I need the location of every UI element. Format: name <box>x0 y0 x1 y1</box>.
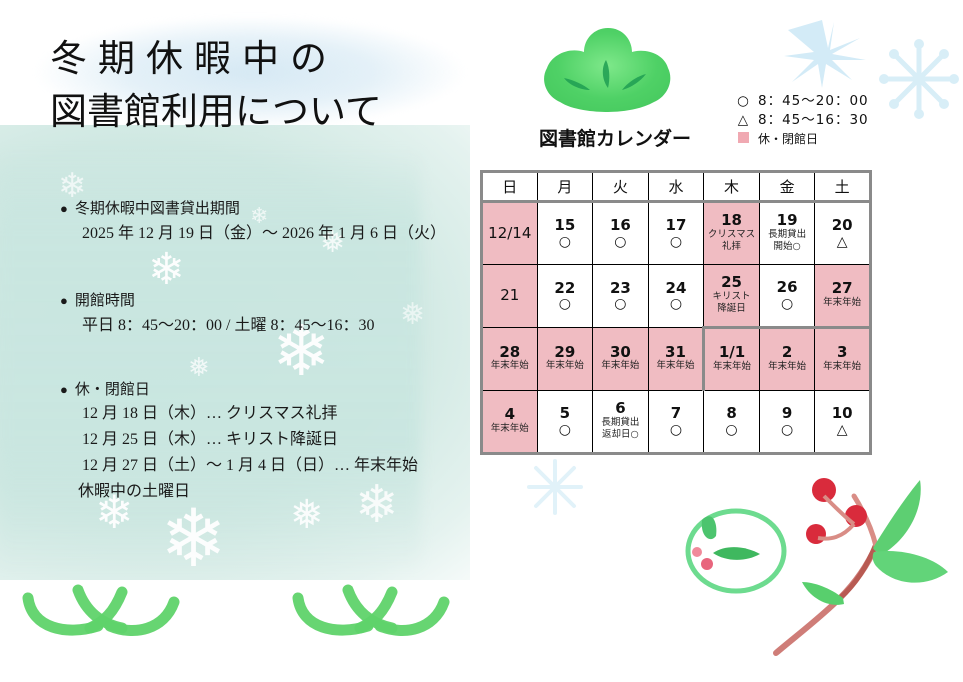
section-line: 12 月 27 日（土）～ 1 月 4 日（日）… 年末年始 <box>82 453 460 479</box>
weekday-header-tue: 火 <box>593 172 649 202</box>
green-garland-decoration <box>288 578 478 640</box>
day-number: 18 <box>721 213 742 229</box>
calendar-day-cell: 23○ <box>593 265 649 328</box>
calendar-week-row: 12/1415○16○17○18クリスマス礼拝19長期貸出開始○20△ <box>482 202 871 265</box>
day-number: 20 <box>832 218 853 234</box>
day-note: 年末年始 <box>601 360 639 373</box>
bullet-icon: ● <box>60 293 68 308</box>
calendar-day-cell: 12/14 <box>482 202 538 265</box>
day-number: 25 <box>721 275 742 291</box>
triangle-icon: △ <box>736 111 750 130</box>
calendar-day-cell: 8○ <box>704 391 760 454</box>
calendar-day-cell: 16○ <box>593 202 649 265</box>
day-note: 年末年始 <box>768 361 806 374</box>
calendar-day-cell: 31年末年始 <box>648 328 704 391</box>
snowflake-icon <box>872 36 963 122</box>
day-number: 26 <box>777 280 798 296</box>
day-note: 返却日○ <box>602 429 639 442</box>
circle-icon: ○ <box>559 235 571 249</box>
poster-canvas: ❄ ❅ ❄ ❄ ❅ ❄ ❄ ❅ ❄ ❄ ❅ 冬 <box>0 0 963 682</box>
calendar-day-cell: 6長期貸出返却日○ <box>593 391 649 454</box>
day-note: 開始○ <box>773 241 800 254</box>
circle-icon: ○ <box>559 297 571 311</box>
calendar-day-cell: 1/1年末年始 <box>704 328 760 391</box>
circle-icon: ○ <box>670 235 682 249</box>
calendar-day-cell: 17○ <box>648 202 704 265</box>
day-number: 24 <box>666 281 687 297</box>
day-note: 年末年始 <box>656 360 694 373</box>
weekday-header-fri: 金 <box>759 172 815 202</box>
snowflake-icon <box>520 455 590 519</box>
weekday-header-sun: 日 <box>482 172 538 202</box>
section-line: 12 月 25 日（木）… キリスト降誕日 <box>82 427 460 453</box>
day-number: 21 <box>500 288 519 304</box>
day-note: 年末年始 <box>823 361 861 374</box>
calendar-title: 図書館カレンダー <box>520 124 710 151</box>
calendar-header-row: 日 月 火 水 木 金 土 <box>482 172 871 202</box>
day-number: 15 <box>554 218 575 234</box>
circle-icon: ○ <box>781 297 793 311</box>
day-number: 9 <box>782 406 792 422</box>
day-number: 12/14 <box>488 226 531 242</box>
calendar-day-cell: 30年末年始 <box>593 328 649 391</box>
weekday-header-sat: 土 <box>815 172 871 202</box>
calendar-day-cell: 22○ <box>537 265 593 328</box>
calendar-day-cell: 5○ <box>537 391 593 454</box>
day-note: 降誕日 <box>717 303 746 316</box>
day-note: 長期貸出 <box>601 417 639 430</box>
legend-row-closed: 休・閉館日 <box>736 130 869 149</box>
page-title: 冬期休暇中の 図書館利用について <box>50 34 470 139</box>
day-note: 礼拝 <box>722 241 741 254</box>
notice-section-loan-period: ●冬期休暇中図書貸出期間 2025 年 12 月 19 日（金）～ 2026 年… <box>60 198 460 246</box>
day-number: 8 <box>726 406 736 422</box>
section-line: 平日 8：45～20：00 / 土曜 8：45～16：30 <box>82 313 460 339</box>
legend-row-open-short: △ 8：45～16：30 <box>736 111 869 130</box>
circle-icon: ○ <box>614 297 626 311</box>
circle-icon: ○ <box>559 423 571 437</box>
calendar-day-cell: 2年末年始 <box>759 328 815 391</box>
day-number: 3 <box>837 345 847 361</box>
calendar-day-cell: 26○ <box>759 265 815 328</box>
day-note: 年末年始 <box>491 360 529 373</box>
legend-text: 休・閉館日 <box>758 131 818 148</box>
notice-section-closed-days: ●休・閉館日 12 月 18 日（木）… クリスマス礼拝 12 月 25 日（木… <box>60 379 460 505</box>
day-number: 1/1 <box>719 345 745 361</box>
calendar-day-cell: 10△ <box>815 391 871 454</box>
calendar-day-cell: 3年末年始 <box>815 328 871 391</box>
day-number: 27 <box>832 281 853 297</box>
calendar-day-cell: 19長期貸出開始○ <box>759 202 815 265</box>
calendar-day-cell: 7○ <box>648 391 704 454</box>
triangle-icon: △ <box>837 235 848 249</box>
section-heading: ●開館時間 <box>60 290 460 313</box>
pink-square-icon <box>736 130 750 149</box>
day-number: 5 <box>560 406 570 422</box>
day-note: 年末年始 <box>546 360 584 373</box>
library-calendar-table: 日 月 火 水 木 金 土 12/1415○16○17○18クリスマス礼拝19長… <box>480 170 872 455</box>
day-number: 2 <box>782 345 792 361</box>
calendar-week-row: 2122○23○24○25キリスト降誕日26○27年末年始 <box>482 265 871 328</box>
day-note: 年末年始 <box>823 297 861 310</box>
day-note: キリスト <box>713 291 751 304</box>
calendar-legend: ○ 8：45～20：00 △ 8：45～16：30 休・閉館日 <box>736 92 869 149</box>
notice-body: ●冬期休暇中図書貸出期間 2025 年 12 月 19 日（金）～ 2026 年… <box>60 198 460 523</box>
bullet-icon: ● <box>60 382 68 397</box>
day-number: 7 <box>671 406 681 422</box>
day-number: 6 <box>615 401 625 417</box>
day-number: 17 <box>666 218 687 234</box>
weekday-header-wed: 水 <box>648 172 704 202</box>
section-heading: ●冬期休暇中図書貸出期間 <box>60 198 460 221</box>
calendar-day-cell: 25キリスト降誕日 <box>704 265 760 328</box>
day-note: 年末年始 <box>491 423 529 436</box>
triangle-icon: △ <box>837 423 848 437</box>
circle-icon: ○ <box>781 423 793 437</box>
weekday-header-mon: 月 <box>537 172 593 202</box>
day-number: 29 <box>554 345 575 361</box>
day-number: 23 <box>610 281 631 297</box>
calendar-day-cell: 21 <box>482 265 538 328</box>
calendar-day-cell: 20△ <box>815 202 871 265</box>
calendar-day-cell: 29年末年始 <box>537 328 593 391</box>
green-garland-decoration <box>18 578 208 640</box>
day-number: 16 <box>610 218 631 234</box>
wreath-and-berry-branch-decoration <box>668 468 958 668</box>
day-note: クリスマス <box>708 229 755 242</box>
calendar-day-cell: 24○ <box>648 265 704 328</box>
calendar-day-cell: 18クリスマス礼拝 <box>704 202 760 265</box>
circle-icon: ○ <box>725 423 737 437</box>
section-heading-text: 開館時間 <box>75 293 135 309</box>
day-number: 4 <box>505 407 515 423</box>
page-title-line2: 図書館利用について <box>50 87 470 140</box>
calendar-day-cell: 9○ <box>759 391 815 454</box>
day-number: 31 <box>665 345 686 361</box>
legend-text: 8：45～16：30 <box>758 111 869 130</box>
section-line: 2025 年 12 月 19 日（金）～ 2026 年 1 月 6 日（火） <box>82 221 460 247</box>
circle-icon: ○ <box>670 423 682 437</box>
section-line: 休暇中の土曜日 <box>78 479 460 505</box>
day-number: 19 <box>777 213 798 229</box>
calendar-day-cell: 15○ <box>537 202 593 265</box>
legend-row-open-full: ○ 8：45～20：00 <box>736 92 869 111</box>
circle-icon: ○ <box>670 297 682 311</box>
circle-icon: ○ <box>736 92 750 111</box>
circle-icon: ○ <box>614 235 626 249</box>
calendar-day-cell: 28年末年始 <box>482 328 538 391</box>
day-number: 10 <box>832 406 853 422</box>
day-note: 年末年始 <box>713 361 751 374</box>
calendar-day-cell: 4年末年始 <box>482 391 538 454</box>
legend-text: 8：45～20：00 <box>758 92 869 111</box>
bullet-icon: ● <box>60 201 68 216</box>
calendar-week-row: 28年末年始29年末年始30年末年始31年末年始1/1年末年始2年末年始3年末年… <box>482 328 871 391</box>
calendar-week-row: 4年末年始5○6長期貸出返却日○7○8○9○10△ <box>482 391 871 454</box>
calendar-body: 12/1415○16○17○18クリスマス礼拝19長期貸出開始○20△2122○… <box>482 202 871 454</box>
day-number: 22 <box>554 281 575 297</box>
day-number: 30 <box>610 345 631 361</box>
weekday-header-thu: 木 <box>704 172 760 202</box>
calendar-day-cell: 27年末年始 <box>815 265 871 328</box>
section-line: 12 月 18 日（木）… クリスマス礼拝 <box>82 401 460 427</box>
snowflake-icon <box>782 16 868 90</box>
day-number: 28 <box>499 345 520 361</box>
page-title-line1: 冬期休暇中の <box>50 34 470 87</box>
notice-section-opening-hours: ●開館時間 平日 8：45～20：00 / 土曜 8：45～16：30 <box>60 290 460 338</box>
section-heading-text: 冬期休暇中図書貸出期間 <box>75 201 240 217</box>
christmas-tree-icon <box>528 22 688 117</box>
section-heading: ●休・閉館日 <box>60 379 460 402</box>
section-heading-text: 休・閉館日 <box>75 382 150 398</box>
day-note: 長期貸出 <box>768 229 806 242</box>
